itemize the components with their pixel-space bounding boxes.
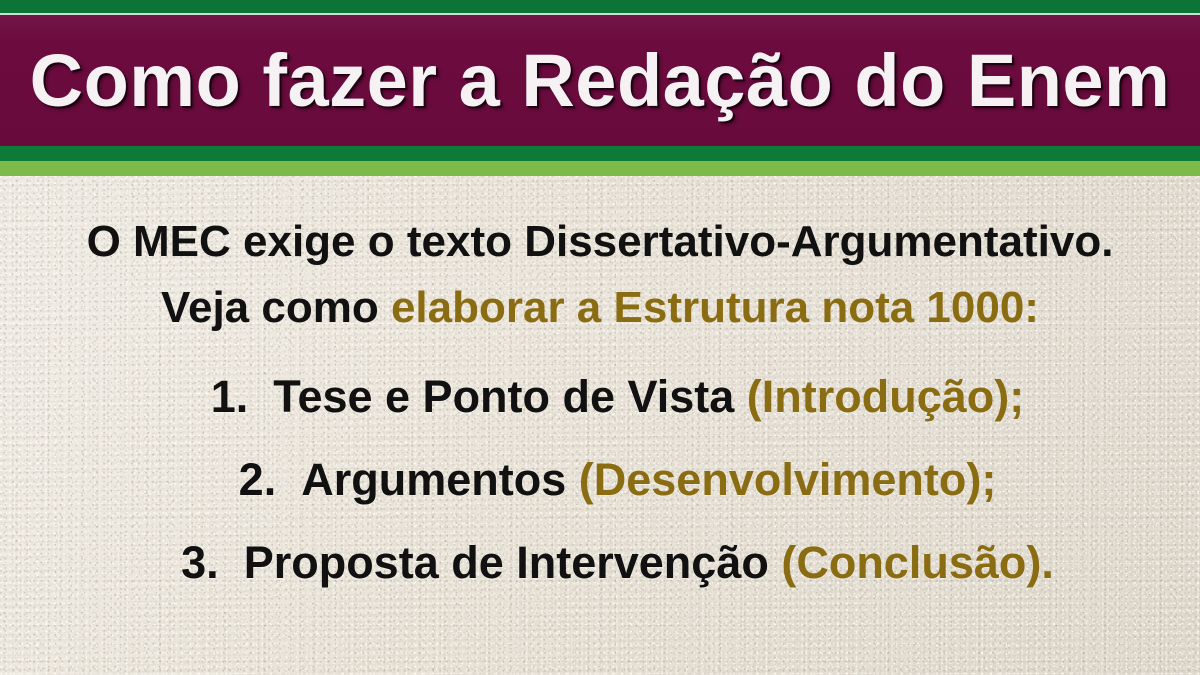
list-item-parenthetical: (Desenvolvimento);	[579, 454, 997, 505]
lead-statement-line-1: O MEC exige o texto Dissertativo-Argumen…	[0, 220, 1200, 264]
lead-statement-line-2: Veja como elaborar a Estrutura nota 1000…	[0, 286, 1200, 330]
lead-statement-line-2-plain: Veja como	[161, 283, 391, 332]
header-band: Como fazer a Redação do Enem	[0, 15, 1200, 146]
header-bottom-light-green-stripe	[0, 161, 1200, 176]
list-item-parenthetical: (Introdução);	[747, 371, 1024, 422]
list-item-label: Tese e Ponto de Vista	[273, 371, 747, 422]
slide-canvas: Como fazer a Redação do Enem O MEC exige…	[0, 0, 1200, 675]
list-item-label: Argumentos	[301, 454, 579, 505]
structure-steps-list: 1. Tese e Ponto de Vista (Introdução); 2…	[55, 374, 1180, 585]
top-dark-green-stripe	[0, 0, 1200, 13]
list-item: 3. Proposta de Intervenção (Conclusão).	[55, 540, 1180, 585]
list-item: 2. Argumentos (Desenvolvimento);	[55, 457, 1180, 502]
body-content: O MEC exige o texto Dissertativo-Argumen…	[0, 176, 1200, 675]
list-item-number: 3.	[181, 537, 219, 588]
lead-statement-line-2-accent: elaborar a Estrutura nota 1000:	[391, 283, 1039, 332]
list-item-label: Proposta de Intervenção	[244, 537, 782, 588]
header-bottom-dark-green-stripe	[0, 146, 1200, 161]
list-item-parenthetical: (Conclusão).	[781, 537, 1054, 588]
list-item-number: 1.	[211, 371, 249, 422]
list-item: 1. Tese e Ponto de Vista (Introdução);	[55, 374, 1180, 419]
list-item-number: 2.	[239, 454, 277, 505]
lead-statement-line-1-text: O MEC exige o texto Dissertativo-Argumen…	[87, 217, 1114, 266]
page-title: Como fazer a Redação do Enem	[0, 44, 1200, 118]
